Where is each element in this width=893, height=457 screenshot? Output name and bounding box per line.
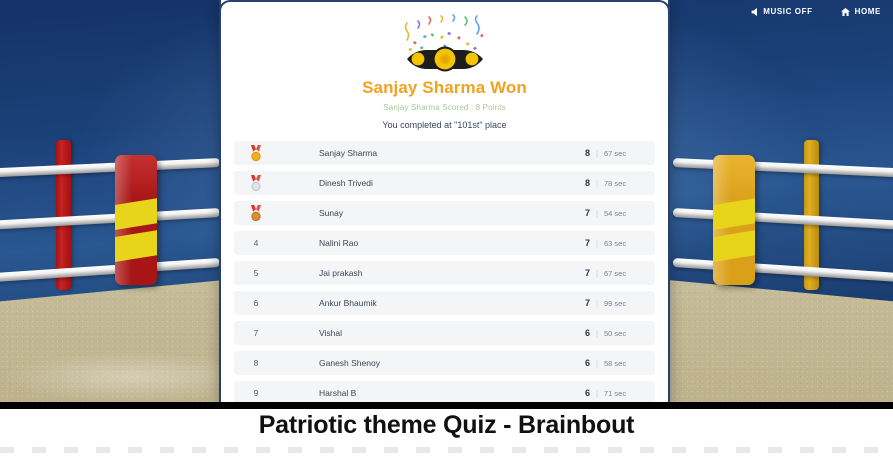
leaderboard-separator: | [590,209,604,218]
leaderboard-points: 6 [574,388,590,398]
silver-medal-icon [250,175,262,192]
ring-corner-pad-left [115,155,157,285]
leaderboard-points: 8 [574,178,590,188]
top-controls: MUSIC OFF HOME [751,7,881,16]
home-label: HOME [855,7,881,16]
leaderboard-rank: 5 [240,268,272,278]
leaderboard-time: 99 sec [604,299,644,308]
leaderboard-time: 71 sec [604,389,644,398]
leaderboard-rank: 9 [240,388,272,398]
leaderboard-points: 7 [574,238,590,248]
screenshot-stage: MUSIC OFF HOME [0,0,893,457]
leaderboard-row: Sunay7|54 sec [234,201,655,225]
leaderboard-separator: | [590,269,604,278]
player-place-line: You completed at "101st" place [234,120,655,130]
leaderboard-rank: 8 [240,358,272,368]
leaderboard-rank: 6 [240,298,272,308]
belt-shape [407,47,483,72]
leaderboard-time: 58 sec [604,359,644,368]
winner-score-line: Sanjay Sharma Scored : 8 Points [234,103,655,112]
championship-belt-icon [385,14,505,76]
leaderboard-rank [240,205,272,222]
leaderboard-player-name: Harshal B [272,388,574,398]
leaderboard-separator: | [590,179,604,188]
leaderboard-player-name: Dinesh Trivedi [272,178,574,188]
leaderboard-player-name: Sunay [272,208,574,218]
result-card: Sanjay Sharma Won Sanjay Sharma Scored :… [219,0,670,409]
ring-rope-left-bottom [0,258,220,284]
leaderboard-row: 4Nalini Rao7|63 sec [234,231,655,255]
winner-title: Sanjay Sharma Won [234,78,655,98]
ring-rope-left-middle [0,208,220,231]
gold-medal-icon [250,145,262,162]
leaderboard-row: 8Ganesh Shenoy6|58 sec [234,351,655,375]
leaderboard-time: 54 sec [604,209,644,218]
leaderboard-time: 50 sec [604,329,644,338]
leaderboard-separator: | [590,149,604,158]
leaderboard-list: Sanjay Sharma8|67 secDinesh Trivedi8|78 … [234,141,655,409]
leaderboard-time: 63 sec [604,239,644,248]
leaderboard-points: 6 [574,358,590,368]
leaderboard-rank: 4 [240,238,272,248]
speaker-mute-icon [751,8,758,16]
leaderboard-player-name: Nalini Rao [272,238,574,248]
leaderboard-points: 6 [574,328,590,338]
leaderboard-row: 6Ankur Bhaumik7|99 sec [234,291,655,315]
leaderboard-separator: | [590,389,604,398]
leaderboard-player-name: Jai prakash [272,268,574,278]
leaderboard-time: 67 sec [604,269,644,278]
leaderboard-time: 67 sec [604,149,644,158]
bottom-dash-strip [0,442,893,457]
caption-title: Patriotic theme Quiz - Brainbout [259,411,635,440]
leaderboard-row: 5Jai prakash7|67 sec [234,261,655,285]
leaderboard-rank [240,175,272,192]
bronze-medal-icon [250,205,262,222]
dash-pattern [0,447,893,453]
leaderboard-separator: | [590,329,604,338]
ring-rope-left-top [0,158,220,178]
caption-bar: Patriotic theme Quiz - Brainbout [0,409,893,442]
leaderboard-separator: | [590,239,604,248]
belt-confetti-area [234,12,655,76]
leaderboard-rank: 7 [240,328,272,338]
leaderboard-row: Dinesh Trivedi8|78 sec [234,171,655,195]
leaderboard-points: 8 [574,148,590,158]
leaderboard-separator: | [590,359,604,368]
leaderboard-row: 7Vishal6|50 sec [234,321,655,345]
leaderboard-player-name: Ankur Bhaumik [272,298,574,308]
ring-rope-right-middle [673,208,893,231]
leaderboard-separator: | [590,299,604,308]
home-button[interactable]: HOME [841,7,881,16]
leaderboard-rank [240,145,272,162]
music-toggle-button[interactable]: MUSIC OFF [751,7,812,16]
viewport-bottom-bar [0,402,893,409]
result-card-body: Sanjay Sharma Won Sanjay Sharma Scored :… [221,0,668,409]
ring-corner-pad-right [713,155,755,285]
ring-rope-right-top [673,158,893,178]
leaderboard-points: 7 [574,208,590,218]
leaderboard-points: 7 [574,298,590,308]
leaderboard-points: 7 [574,268,590,278]
game-viewport: MUSIC OFF HOME [0,0,893,409]
confetti-icon [405,15,483,51]
leaderboard-row: Sanjay Sharma8|67 sec [234,141,655,165]
home-icon [841,8,850,16]
leaderboard-player-name: Sanjay Sharma [272,148,574,158]
leaderboard-time: 78 sec [604,179,644,188]
leaderboard-player-name: Ganesh Shenoy [272,358,574,368]
leaderboard-player-name: Vishal [272,328,574,338]
music-toggle-label: MUSIC OFF [763,7,812,16]
ring-rope-right-bottom [673,258,893,284]
